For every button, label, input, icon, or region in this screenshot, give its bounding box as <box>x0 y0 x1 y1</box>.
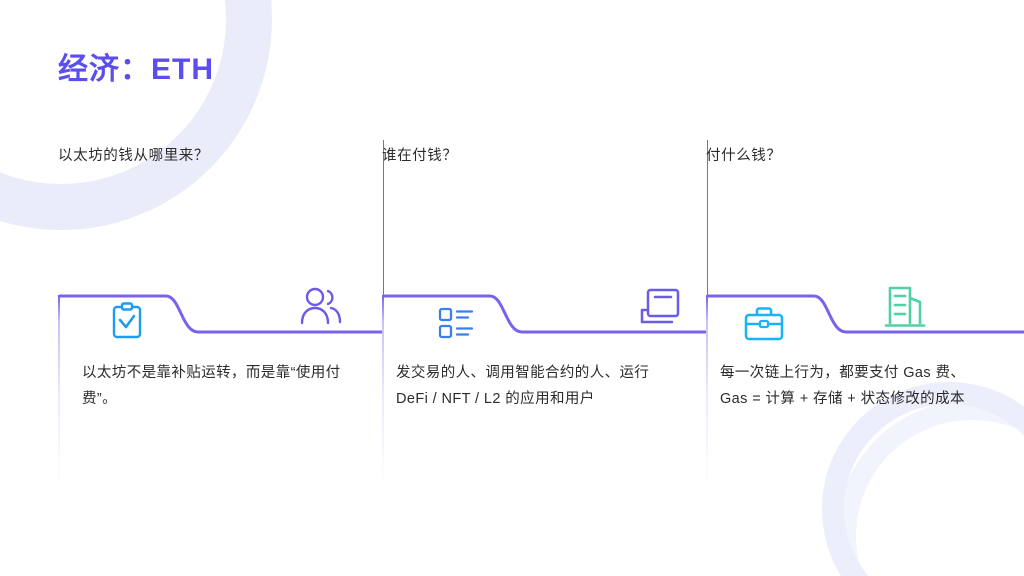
column-2: 谁在付钱？ 发交易的人、调用智能合约的人、运行 DeFi / <box>382 0 708 576</box>
column-2-body: 发交易的人、调用智能合约的人、运行 DeFi / NFT / L2 的应用和用户 <box>396 360 656 412</box>
page-title: 经济：ETH <box>58 44 214 88</box>
users-icon <box>298 286 344 326</box>
column-3-body: 每一次链上行为，都要支付 Gas 费、Gas = 计算 + 存储 + 状态修改的… <box>720 360 980 412</box>
slide-canvas: 经济：ETH 以太坊的钱从哪里来？ 以太坊不是靠补贴运 <box>0 0 1024 576</box>
building-icon <box>884 284 928 328</box>
column-1-body: 以太坊不是靠补贴运转，而是靠“使用付费”。 <box>82 360 350 412</box>
clipboard-check-icon <box>110 302 144 340</box>
column-3: 付什么钱？ 每一次链上行为，都要支付 Ga <box>706 0 1024 576</box>
briefcase-icon <box>744 306 784 342</box>
monitor-icon <box>640 288 682 328</box>
column-3-heading: 付什么钱？ <box>706 144 782 165</box>
column-1-heading: 以太坊的钱从哪里来？ <box>58 144 209 165</box>
list-grid-icon <box>438 306 476 340</box>
column-2-heading: 谁在付钱？ <box>382 144 458 165</box>
